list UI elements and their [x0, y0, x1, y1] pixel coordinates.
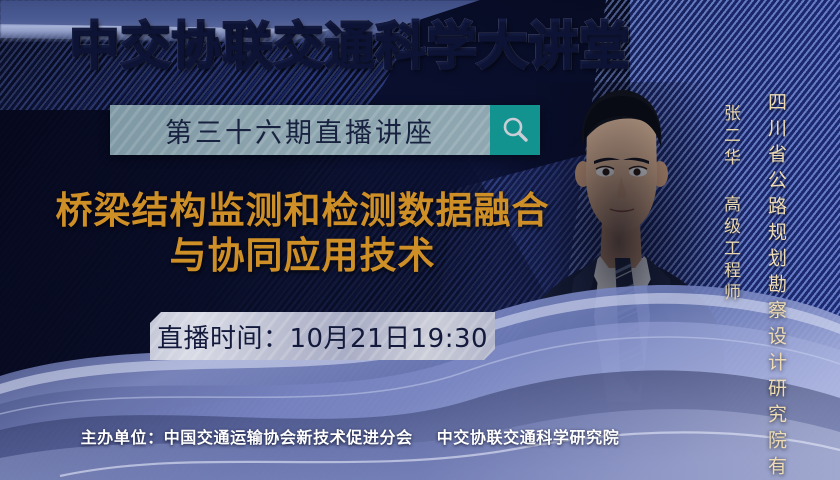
search-icon-glyph [500, 115, 530, 145]
live-time-text: 直播时间：10月21日19:30 [157, 318, 488, 355]
live-lecture-poster: 中交协联交通科学大讲堂 第三十六期直播讲座 桥梁结构监测和检测数据融合 与协同应… [0, 0, 840, 480]
subtitle-label: 第三十六期直播讲座 [165, 111, 435, 150]
silk-ribbon-decoration [0, 280, 840, 480]
speaker-organization: 四川省公路规划勘察设计研究院有限公司 [763, 92, 790, 480]
search-icon[interactable] [490, 105, 540, 155]
main-title: 中交协联交通科学大讲堂 [0, 18, 700, 74]
live-time-banner: 直播时间：10月21日19:30 [150, 312, 495, 360]
lecture-topic-line1: 桥梁结构监测和检测数据融合 [56, 189, 550, 232]
speaker-name-title: 张二华 高级工程师 [718, 104, 743, 305]
lecture-topic: 桥梁结构监测和检测数据融合 与协同应用技术 [35, 188, 570, 278]
footer-prefix: 主办单位： [81, 428, 164, 447]
footer-org-2: 中交协联交通科学研究院 [437, 428, 620, 447]
footer-organizers: 主办单位：中国交通运输协会新技术促进分会中交协联交通科学研究院 [0, 424, 700, 448]
lecture-topic-line2: 与协同应用技术 [35, 233, 570, 278]
footer-org-1: 中国交通运输协会新技术促进分会 [164, 428, 413, 447]
subtitle-bar: 第三十六期直播讲座 [110, 105, 540, 155]
main-title-text: 中交协联交通科学大讲堂 [70, 17, 631, 75]
subtitle-bar-body: 第三十六期直播讲座 [110, 105, 490, 155]
